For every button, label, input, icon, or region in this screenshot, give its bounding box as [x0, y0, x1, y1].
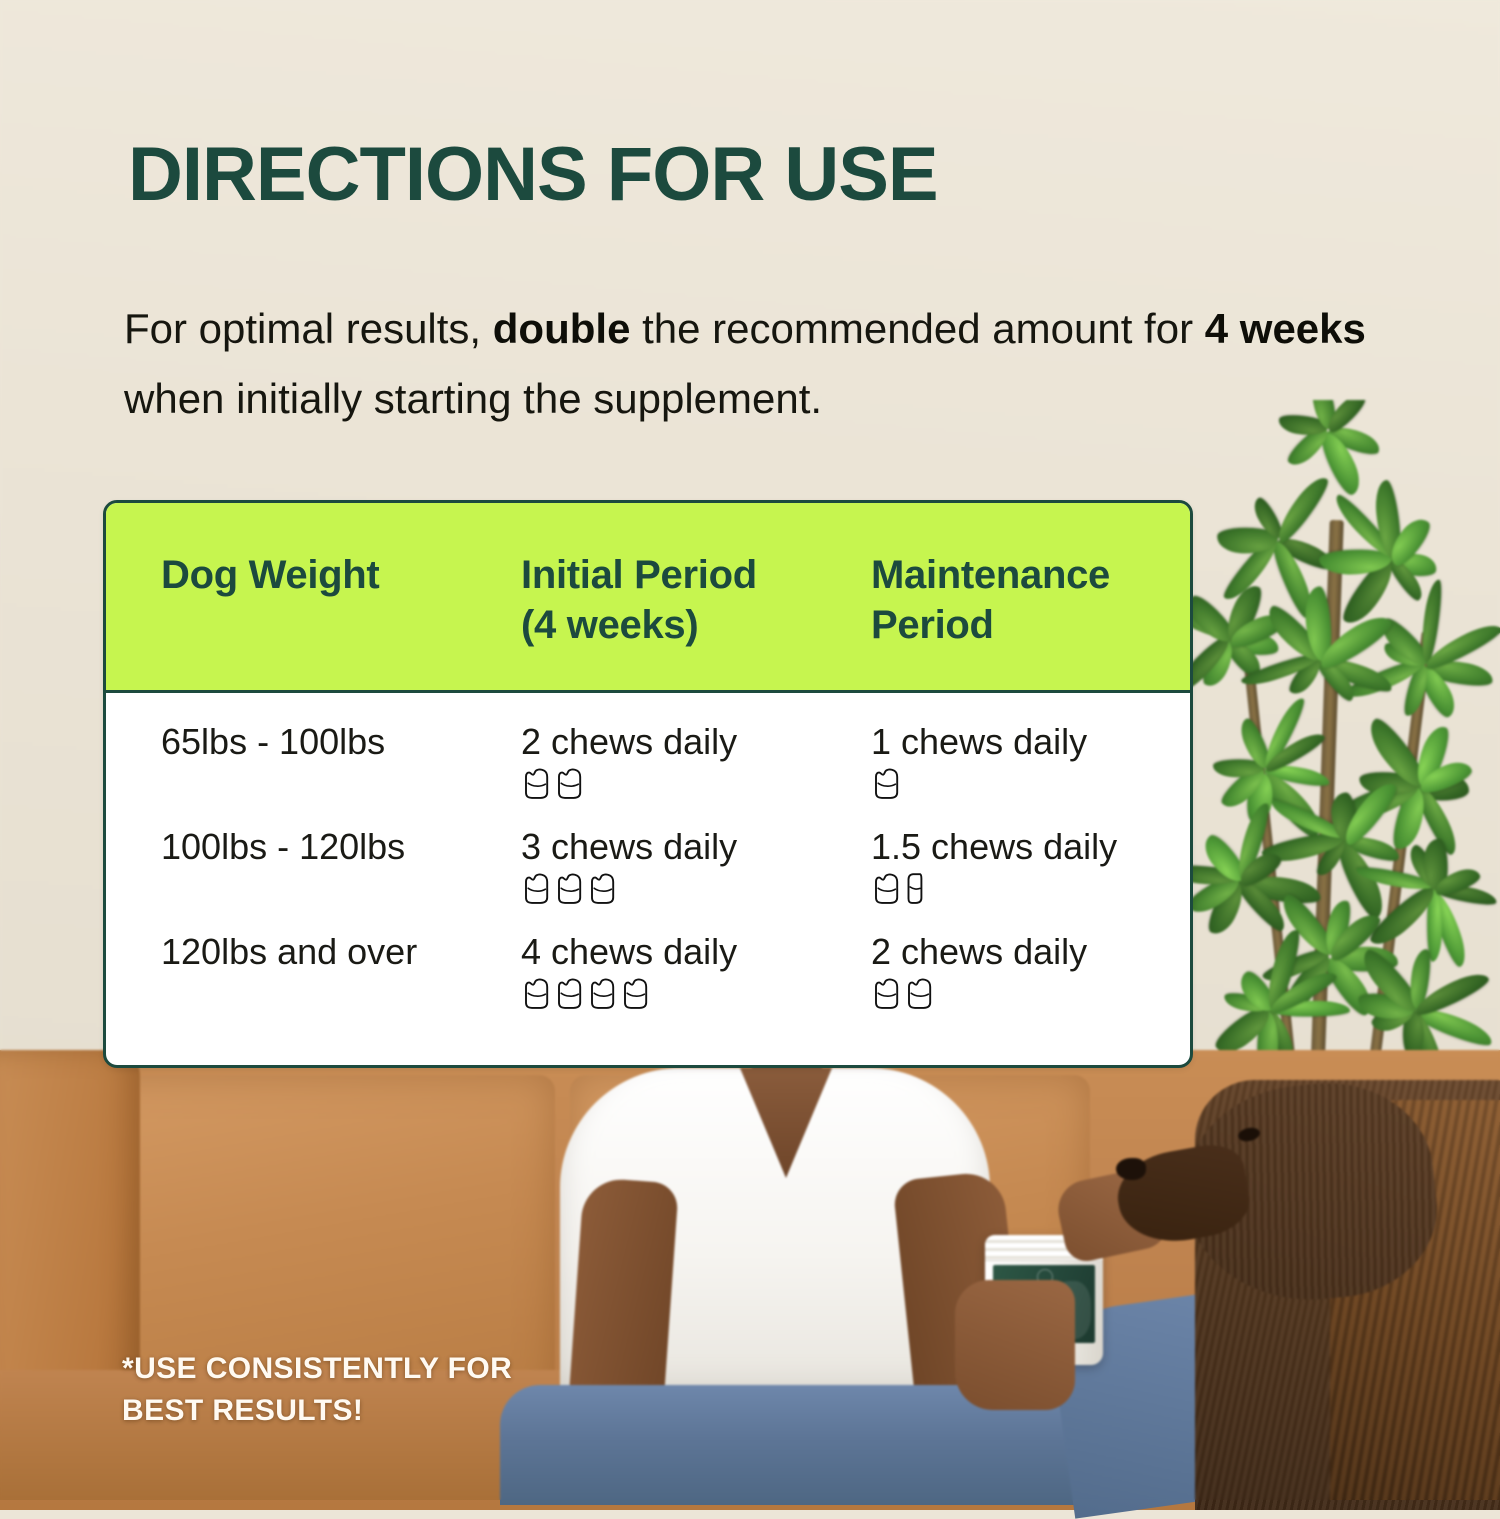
chew-icons-maintenance — [873, 872, 923, 905]
maintenance-line1: Maintenance — [871, 553, 1110, 597]
cell-initial-period: 4 chews daily — [521, 931, 737, 973]
chew-icon — [523, 977, 550, 1010]
maintenance-line2: Period — [871, 603, 994, 647]
half-chew-icon — [906, 872, 923, 905]
cell-maintenance-period: 1.5 chews daily — [871, 826, 1117, 868]
chew-icon — [873, 872, 900, 905]
chew-icon — [523, 872, 550, 905]
chew-icons-maintenance — [873, 767, 900, 800]
table-row: 120lbs and over4 chews daily2 chews dail… — [106, 915, 1190, 1020]
chew-icons-initial — [523, 977, 649, 1010]
cell-initial-period: 2 chews daily — [521, 721, 737, 763]
chew-icon — [589, 977, 616, 1010]
chew-icon — [523, 767, 550, 800]
footnote-line-2: BEST RESULTS! — [122, 1394, 363, 1427]
subtitle: For optimal results, double the recommen… — [124, 294, 1394, 434]
cell-maintenance-period: 2 chews daily — [871, 931, 1087, 973]
cell-maintenance-period: 1 chews daily — [871, 721, 1087, 763]
table-header-row: Dog Weight Initial Period(4 weeks) Maint… — [106, 503, 1190, 693]
dosage-table: Dog Weight Initial Period(4 weeks) Maint… — [103, 500, 1193, 1068]
chew-icons-initial — [523, 872, 616, 905]
subtitle-run-0: For optimal results, — [124, 305, 493, 352]
table-row: 100lbs - 120lbs3 chews daily1.5 chews da… — [106, 810, 1190, 915]
chew-icon — [906, 977, 933, 1010]
table-body: 65lbs - 100lbs2 chews daily1 chews daily… — [106, 693, 1190, 1063]
initial-period-line2: (4 weeks) — [521, 603, 698, 647]
cell-initial-period: 3 chews daily — [521, 826, 737, 868]
chew-icons-initial — [523, 767, 583, 800]
table-row: 65lbs - 100lbs2 chews daily1 chews daily — [106, 705, 1190, 810]
chew-icon — [556, 767, 583, 800]
column-header-dog-weight: Dog Weight — [161, 550, 379, 600]
column-header-initial-period: Initial Period(4 weeks) — [521, 550, 757, 650]
chew-icons-maintenance — [873, 977, 933, 1010]
subtitle-run-4: when initially starting the supplement. — [124, 375, 822, 422]
footnote: *USE CONSISTENTLY FOR BEST RESULTS! — [122, 1348, 512, 1432]
chew-icon — [622, 977, 649, 1010]
content-layer: DIRECTIONS FOR USE For optimal results, … — [0, 0, 1500, 1500]
footnote-line-1: *USE CONSISTENTLY FOR — [122, 1352, 512, 1385]
initial-period-line1: Initial Period — [521, 553, 757, 597]
chew-icon — [556, 977, 583, 1010]
page-title: DIRECTIONS FOR USE — [128, 131, 938, 218]
chew-icon — [589, 872, 616, 905]
cell-dog-weight: 65lbs - 100lbs — [161, 721, 385, 763]
cell-dog-weight: 100lbs - 120lbs — [161, 826, 405, 868]
subtitle-run-1: double — [493, 305, 631, 352]
cell-dog-weight: 120lbs and over — [161, 931, 417, 973]
chew-icon — [873, 767, 900, 800]
subtitle-run-3: 4 weeks — [1205, 305, 1366, 352]
subtitle-run-2: the recommended amount for — [630, 305, 1204, 352]
chew-icon — [556, 872, 583, 905]
column-header-maintenance-period: MaintenancePeriod — [871, 550, 1110, 650]
chew-icon — [873, 977, 900, 1010]
